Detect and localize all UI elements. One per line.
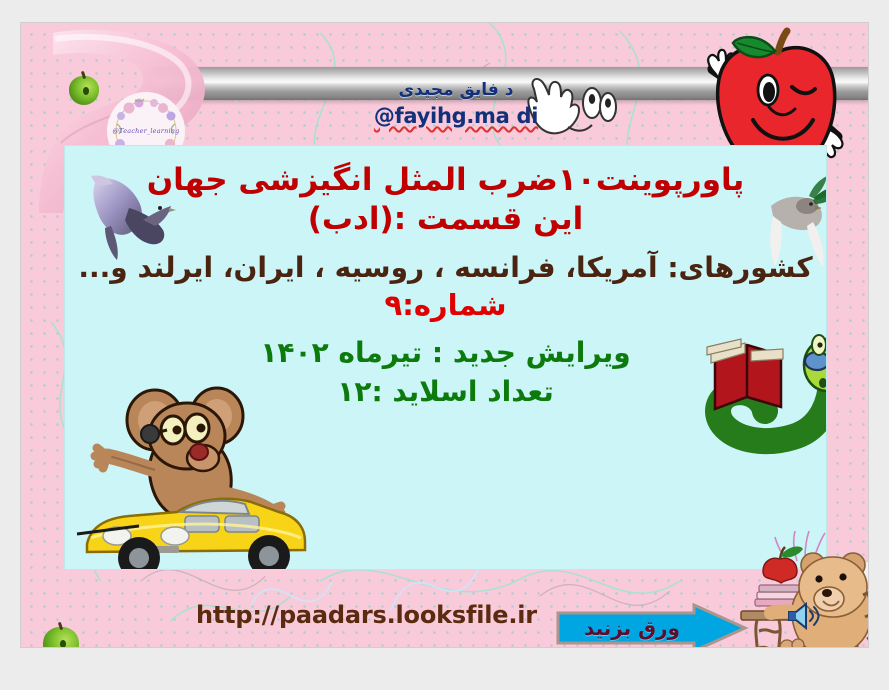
speaker-icon[interactable] xyxy=(786,601,820,631)
next-slide-label: ورق بزنید xyxy=(562,603,702,648)
site-url[interactable]: http://paadars.looksfile.ir xyxy=(196,601,537,629)
green-apple-icon xyxy=(69,76,99,105)
mouse-in-yellow-car-icon xyxy=(73,386,318,570)
title-line-1: پاورپوینت۱۰ضرب المثل انگیزشی جهان xyxy=(77,162,814,199)
slide-text-stack: پاورپوینت۱۰ضرب المثل انگیزشی جهان این قس… xyxy=(65,162,826,408)
content-panel: پاورپوینت۱۰ضرب المثل انگیزشی جهان این قس… xyxy=(64,145,827,570)
slide-count-line: تعداد اسلاید :۱۲ xyxy=(77,375,814,408)
slide-root: @Teacher_learning xyxy=(0,0,889,690)
slide-frame: @Teacher_learning xyxy=(20,22,869,648)
author-name: د فایق مجیدی xyxy=(321,81,591,100)
badge-label: @Teacher_learning xyxy=(112,127,179,135)
countries-line: کشورهای: آمریکا، فرانسه ، روسیه ، ایران،… xyxy=(77,251,814,284)
title-line-2: این قسمت :(ادب) xyxy=(77,201,814,238)
number-line: شماره:۹ xyxy=(77,288,814,322)
next-slide-button[interactable]: ورق بزنید xyxy=(554,603,749,648)
edition-line: ویرایش جدید : تیرماه ۱۴۰۲ xyxy=(77,336,814,369)
author-header: د فایق مجیدی @fayihg.ma di xyxy=(321,81,591,128)
author-handle: @fayihg.ma di xyxy=(321,104,591,128)
